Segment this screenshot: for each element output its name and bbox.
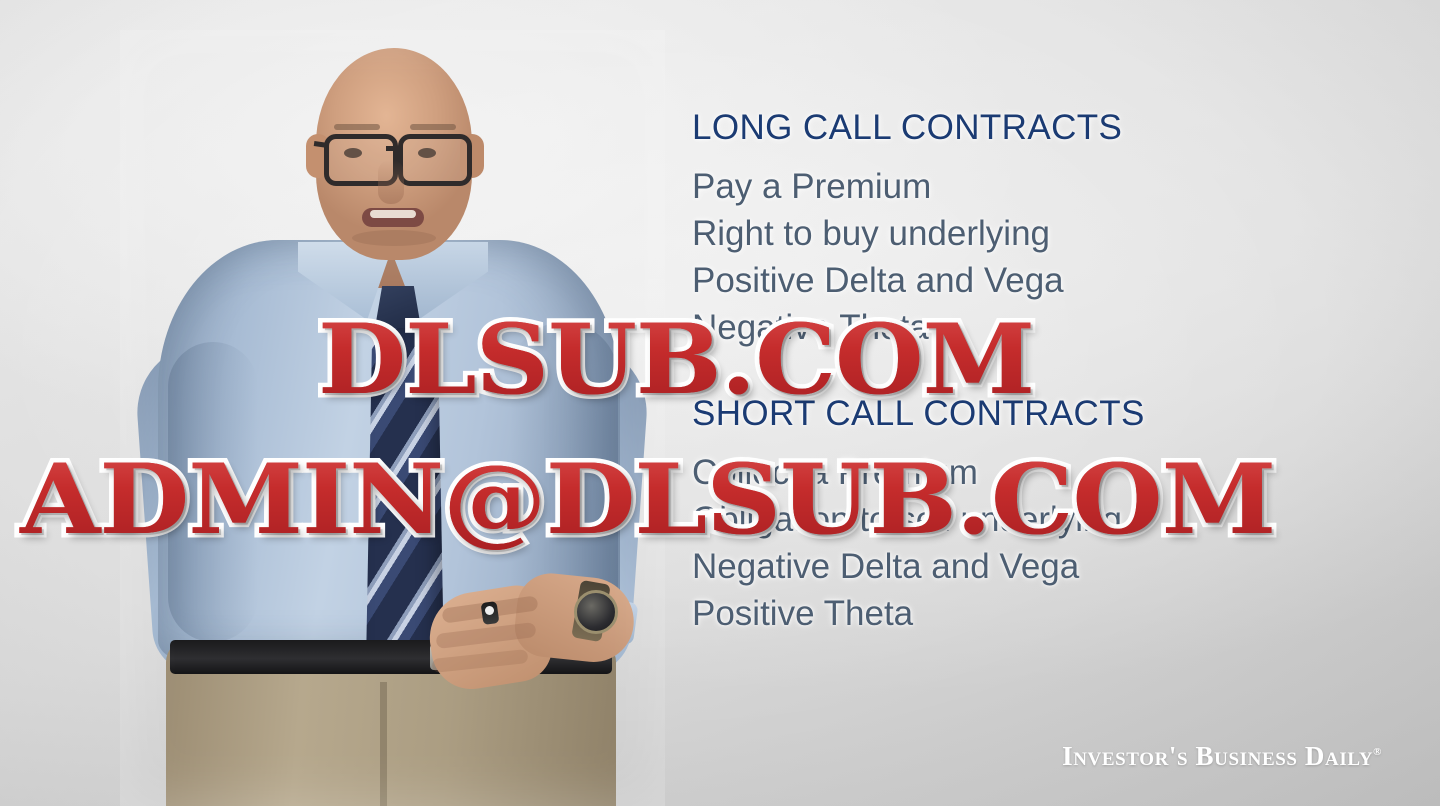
- long-call-heading: LONG CALL CONTRACTS: [692, 110, 1392, 145]
- long-call-line-2: Right to buy underlying: [692, 210, 1392, 257]
- presenter-eyebrow-left: [334, 124, 380, 130]
- short-call-line-4: Positive Theta: [692, 590, 1392, 637]
- presenter-teeth: [370, 210, 416, 218]
- watermark-email: ADMIN@DLSUB.COM: [20, 443, 1275, 556]
- registered-trademark-mark: ®: [1373, 746, 1382, 758]
- ibd-logo-text: Investor's Business Daily: [1062, 741, 1373, 771]
- presenter-chin-shadow: [352, 230, 436, 246]
- presenter-eyebrow-right: [410, 124, 456, 130]
- watermark-site: DLSUB.COM: [318, 303, 1034, 416]
- video-frame: LONG CALL CONTRACTS Pay a Premium Right …: [0, 0, 1440, 806]
- long-call-line-1: Pay a Premium: [692, 163, 1392, 210]
- ring-stone: [485, 606, 494, 615]
- wristwatch-face: [574, 590, 618, 634]
- glasses-lens-right: [398, 134, 472, 186]
- presenter-figure: [130, 42, 650, 806]
- ibd-logo: Investor's Business Daily®: [1062, 741, 1382, 772]
- long-call-line-3: Positive Delta and Vega: [692, 257, 1392, 304]
- trouser-crease: [380, 682, 387, 806]
- presenter-nose: [378, 160, 404, 204]
- glasses-bridge: [386, 146, 402, 151]
